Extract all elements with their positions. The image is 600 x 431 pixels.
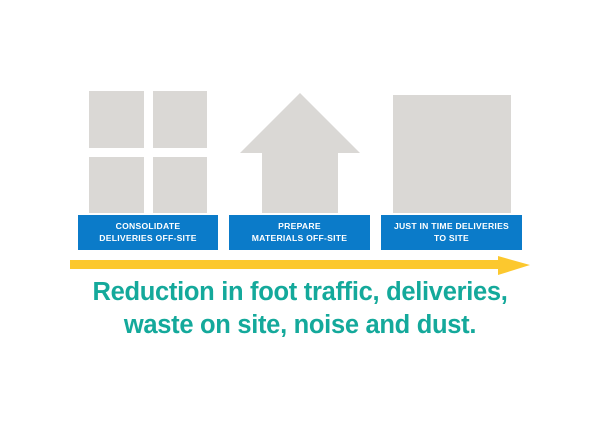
caption-line-2: waste on site, noise and dust. (0, 309, 600, 342)
stage-consolidate-icon-area (78, 88, 218, 213)
stage-just-in-time-icon-area (381, 88, 522, 213)
grid-cell (153, 157, 208, 214)
stage-label-line1: JUST IN TIME DELIVERIES (394, 221, 509, 231)
stage-prepare: PREPARE MATERIALS OFF-SITE (229, 88, 370, 250)
house-icon (238, 91, 362, 213)
grid-2x2-icon (89, 91, 207, 213)
grid-cell (89, 91, 144, 148)
stage-label-consolidate: CONSOLIDATE DELIVERIES OFF-SITE (78, 215, 218, 250)
stage-label-line2: MATERIALS OFF-SITE (252, 233, 348, 243)
stage-label-prepare: PREPARE MATERIALS OFF-SITE (229, 215, 370, 250)
stage-consolidate: CONSOLIDATE DELIVERIES OFF-SITE (78, 88, 218, 250)
caption-line-1: Reduction in foot traffic, deliveries, (0, 276, 600, 309)
caption-text: Reduction in foot traffic, deliveries, w… (0, 276, 600, 341)
progress-arrow-right-icon (70, 256, 530, 276)
stage-label-line1: CONSOLIDATE (116, 221, 181, 231)
grid-cell (89, 157, 144, 214)
stage-label-line2: DELIVERIES OFF-SITE (99, 233, 196, 243)
grid-cell (153, 91, 208, 148)
infographic-canvas: CONSOLIDATE DELIVERIES OFF-SITE PREPARE … (0, 0, 600, 431)
stage-label-line2: TO SITE (434, 233, 469, 243)
stage-just-in-time: JUST IN TIME DELIVERIES TO SITE (381, 88, 522, 250)
stage-label-line1: PREPARE (278, 221, 321, 231)
stage-prepare-icon-area (229, 88, 370, 213)
stage-label-just-in-time: JUST IN TIME DELIVERIES TO SITE (381, 215, 522, 250)
block-icon (393, 95, 511, 213)
